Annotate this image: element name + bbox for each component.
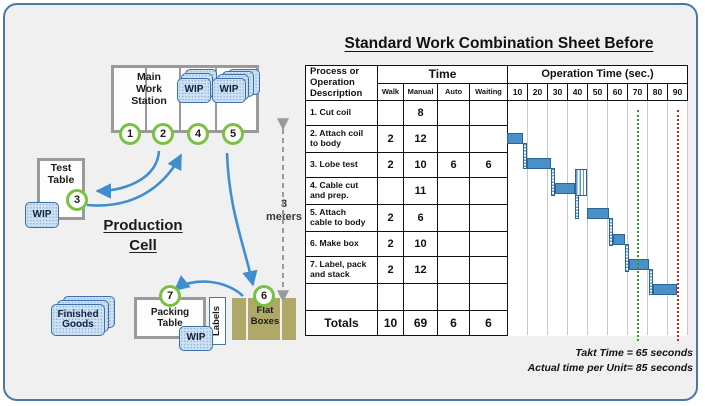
cell-manual: 11 — [404, 177, 438, 204]
totals-manual: 69 — [404, 310, 438, 335]
chart-cell — [648, 177, 668, 204]
cell-waiting — [470, 100, 508, 125]
chart-cell — [568, 204, 588, 231]
chart-cell — [628, 204, 648, 231]
chart-cell — [648, 283, 668, 310]
chart-cell — [508, 204, 528, 231]
tick-40: 40 — [568, 83, 588, 100]
chart-cell — [508, 100, 528, 125]
chart-cell — [628, 310, 648, 335]
tick-10: 10 — [508, 83, 528, 100]
wip-label: WIP — [177, 78, 211, 103]
header-operation-time: Operation Time (sec.) — [508, 66, 688, 84]
chart-cell — [628, 152, 648, 177]
cell-waiting — [470, 125, 508, 152]
step-marker-6[interactable]: 6 — [253, 285, 275, 307]
table-row[interactable]: 5. Attachcable to body 2 6 — [306, 204, 688, 231]
chart-cell — [668, 310, 688, 335]
chart-cell — [628, 177, 648, 204]
step-marker-5[interactable]: 5 — [222, 123, 244, 145]
chart-cell — [568, 177, 588, 204]
cell-auto — [438, 177, 470, 204]
cell-auto — [438, 100, 470, 125]
chart-cell — [568, 283, 588, 310]
chart-cell — [588, 231, 608, 256]
cell-walk: 2 — [378, 152, 404, 177]
chart-cell — [608, 310, 628, 335]
chart-cell — [508, 152, 528, 177]
row-description: 2. Attach coilto body — [306, 125, 378, 152]
chart-cell — [668, 125, 688, 152]
row-description: 3. Lobe test — [306, 152, 378, 177]
tick-20: 20 — [528, 83, 548, 100]
chart-cell — [548, 256, 568, 283]
tick-80: 80 — [648, 83, 668, 100]
cell-waiting — [470, 231, 508, 256]
chart-cell — [528, 204, 548, 231]
tick-50: 50 — [588, 83, 608, 100]
row-description: 6. Make box — [306, 231, 378, 256]
cell-walk: 2 — [378, 231, 404, 256]
chart-cell — [648, 125, 668, 152]
standard-work-sheet: Standard Work Combination Sheet Before P… — [305, 13, 693, 393]
cell-walk — [378, 283, 404, 310]
cell-manual: 6 — [404, 204, 438, 231]
chart-cell — [648, 100, 668, 125]
chart-cell — [508, 283, 528, 310]
chart-cell — [548, 152, 568, 177]
chart-cell — [648, 310, 668, 335]
chart-cell — [528, 310, 548, 335]
chart-cell — [508, 256, 528, 283]
cell-auto — [438, 256, 470, 283]
cell-manual: 12 — [404, 125, 438, 152]
tick-70: 70 — [628, 83, 648, 100]
chart-cell — [548, 100, 568, 125]
cell-walk — [378, 100, 404, 125]
chart-cell — [628, 125, 648, 152]
cell-manual — [404, 283, 438, 310]
header-walk: Walk — [378, 83, 404, 100]
chart-cell — [528, 125, 548, 152]
header-manual: Manual — [404, 83, 438, 100]
chart-cell — [648, 256, 668, 283]
chart-cell — [548, 177, 568, 204]
actual-time-note: Actual time per Unit= 85 seconds — [528, 362, 693, 374]
chart-cell — [508, 231, 528, 256]
totals-walk: 10 — [378, 310, 404, 335]
table-row[interactable]: 1. Cut coil 8 — [306, 100, 688, 125]
tick-30: 30 — [548, 83, 568, 100]
chart-cell — [648, 231, 668, 256]
row-description — [306, 283, 378, 310]
table-header-row-1: Process orOperationDescription Time Oper… — [306, 66, 688, 84]
cell-waiting — [470, 283, 508, 310]
step-marker-1[interactable]: 1 — [119, 123, 141, 145]
table-row[interactable]: 7. Label, packand stack 2 12 — [306, 256, 688, 283]
cell-manual: 8 — [404, 100, 438, 125]
chart-cell — [588, 177, 608, 204]
chart-cell — [548, 231, 568, 256]
cell-manual: 12 — [404, 256, 438, 283]
chart-cell — [608, 283, 628, 310]
totals-waiting: 6 — [470, 310, 508, 335]
chart-cell — [548, 310, 568, 335]
chart-cell — [608, 152, 628, 177]
chart-cell — [668, 152, 688, 177]
cell-walk: 2 — [378, 125, 404, 152]
tick-90: 90 — [668, 83, 688, 100]
chart-cell — [588, 152, 608, 177]
chart-cell — [668, 177, 688, 204]
table-row[interactable]: 2. Attach coilto body 2 12 — [306, 125, 688, 152]
totals-auto: 6 — [438, 310, 470, 335]
chart-cell — [508, 310, 528, 335]
chart-cell — [628, 100, 648, 125]
step-marker-4[interactable]: 4 — [187, 123, 209, 145]
chart-cell — [608, 100, 628, 125]
header-auto: Auto — [438, 83, 470, 100]
chart-cell — [528, 283, 548, 310]
chart-cell — [548, 283, 568, 310]
chart-cell — [648, 204, 668, 231]
step-marker-7[interactable]: 7 — [159, 285, 181, 307]
chart-cell — [588, 283, 608, 310]
chart-cell — [628, 256, 648, 283]
cell-auto — [438, 283, 470, 310]
cell-waiting — [470, 177, 508, 204]
chart-cell — [608, 231, 628, 256]
chart-cell — [568, 125, 588, 152]
header-description: Process orOperationDescription — [306, 66, 378, 101]
wip-label: WIP — [25, 202, 59, 228]
chart-cell — [568, 310, 588, 335]
chart-cell — [568, 100, 588, 125]
cell-auto — [438, 125, 470, 152]
chart-cell — [588, 204, 608, 231]
finished-goods-label: Finished Goods — [51, 304, 105, 336]
cell-auto — [438, 204, 470, 231]
sheet-notes: Takt Time = 65 seconds Actual time per U… — [365, 346, 693, 376]
chart-cell — [648, 152, 668, 177]
cell-manual: 10 — [404, 152, 438, 177]
cell-walk — [378, 177, 404, 204]
chart-cell — [628, 231, 648, 256]
cell-walk: 2 — [378, 204, 404, 231]
chart-cell — [548, 125, 568, 152]
sheet-title: Standard Work Combination Sheet Before — [305, 35, 693, 53]
chart-cell — [588, 310, 608, 335]
chart-cell — [608, 204, 628, 231]
chart-cell — [528, 177, 548, 204]
chart-cell — [668, 283, 688, 310]
step-marker-2[interactable]: 2 — [152, 123, 174, 145]
table-row[interactable]: 4. Cable cutand prep. 11 — [306, 177, 688, 204]
chart-cell — [528, 152, 548, 177]
cell-waiting — [470, 204, 508, 231]
row-description: 4. Cable cutand prep. — [306, 177, 378, 204]
chart-cell — [568, 256, 588, 283]
step-marker-3[interactable]: 3 — [66, 189, 88, 211]
table-row[interactable]: 6. Make box 2 10 — [306, 231, 688, 256]
chart-cell — [668, 100, 688, 125]
cell-walk: 2 — [378, 256, 404, 283]
chart-cell — [508, 125, 528, 152]
chart-cell — [608, 125, 628, 152]
chart-cell — [588, 256, 608, 283]
table-row[interactable]: 3. Lobe test 2 10 6 6 — [306, 152, 688, 177]
row-description: 1. Cut coil — [306, 100, 378, 125]
chart-cell — [568, 231, 588, 256]
cell-waiting: 6 — [470, 152, 508, 177]
cell-auto: 6 — [438, 152, 470, 177]
chart-cell — [668, 231, 688, 256]
cell-waiting — [470, 256, 508, 283]
chart-cell — [608, 256, 628, 283]
chart-cell — [608, 177, 628, 204]
cell-auto — [438, 231, 470, 256]
chart-cell — [628, 283, 648, 310]
tick-60: 60 — [608, 83, 628, 100]
chart-cell — [668, 204, 688, 231]
table-totals-row: Totals 10 69 6 6 — [306, 310, 688, 335]
wip-label: WIP — [212, 78, 246, 103]
chart-cell — [548, 204, 568, 231]
chart-cell — [588, 125, 608, 152]
chart-cell — [508, 177, 528, 204]
totals-label: Totals — [306, 310, 378, 335]
row-description: 7. Label, packand stack — [306, 256, 378, 283]
header-waiting: Waiting — [470, 83, 508, 100]
header-time: Time — [378, 66, 508, 84]
standard-work-table: Process orOperationDescription Time Oper… — [305, 65, 688, 336]
diagram-frame: Main Work Station WIP WIP Test Table WIP — [3, 3, 698, 401]
cell-manual: 10 — [404, 231, 438, 256]
chart-cell — [528, 256, 548, 283]
table-row-empty[interactable] — [306, 283, 688, 310]
chart-cell — [528, 231, 548, 256]
takt-time-note: Takt Time = 65 seconds — [575, 347, 693, 359]
production-cell-diagram: Main Work Station WIP WIP Test Table WIP — [13, 13, 301, 393]
chart-cell — [588, 100, 608, 125]
chart-cell — [668, 256, 688, 283]
wip-label: WIP — [179, 326, 213, 351]
chart-cell — [528, 100, 548, 125]
row-description: 5. Attachcable to body — [306, 204, 378, 231]
chart-cell — [568, 152, 588, 177]
